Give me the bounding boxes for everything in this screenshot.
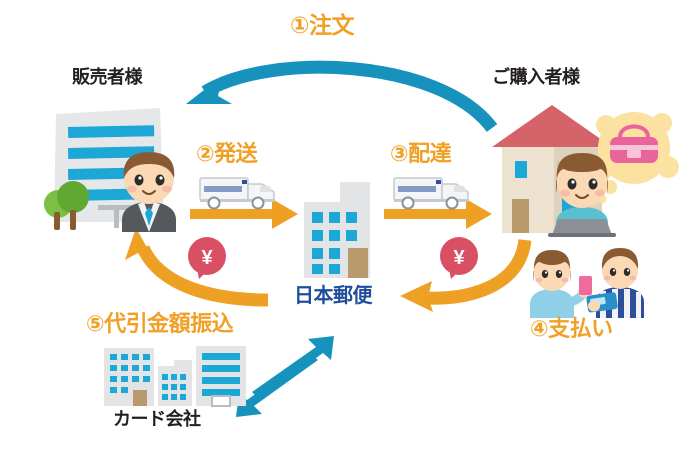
buyer-label: ご購入者様 (492, 68, 580, 86)
buyer-illustration (482, 95, 682, 235)
card-company-buildings-icon (100, 344, 250, 406)
step4-label: ④支払い (530, 318, 613, 340)
card-double-arrow (236, 336, 334, 417)
payment-scene-icon (524, 246, 654, 318)
delivery-truck-deliver-icon (392, 172, 480, 212)
courier-icon (586, 248, 644, 318)
card-company-label: カード会社 (113, 410, 201, 428)
trees-icon (44, 181, 89, 230)
seller-label: 販売者様 (72, 68, 142, 86)
businessman-icon (122, 152, 176, 232)
woman-paying-icon (530, 250, 592, 318)
step2-label: ②発送 (196, 143, 257, 165)
order-arrow (186, 67, 492, 128)
japanpost-label: 日本郵便 (294, 286, 372, 306)
yen-badge-left-icon: ¥ (185, 237, 229, 283)
yen-symbol-right: ¥ (453, 247, 465, 269)
step5-label: ⑤代引金額振込 (86, 313, 233, 335)
seller-illustration (40, 92, 200, 232)
yen-badge-right-icon: ¥ (437, 237, 481, 283)
yen-symbol-left: ¥ (201, 247, 213, 269)
step3-label: ③配達 (390, 143, 451, 165)
post-office-building-icon (296, 172, 386, 282)
delivery-truck-ship-icon (198, 172, 286, 212)
step1-label: ①注文 (290, 14, 354, 37)
diagram-canvas: 販売者様 ②発送 日本郵便 ③配達 (0, 0, 700, 450)
